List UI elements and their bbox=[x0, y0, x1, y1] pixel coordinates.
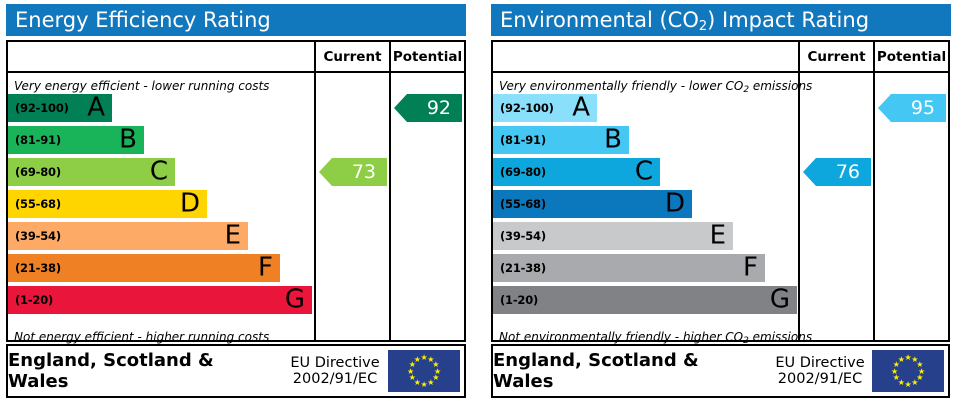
footer-directive-line1: EU Directive bbox=[775, 355, 864, 371]
caption-top-prefix: Very environmentally friendly - lower CO bbox=[499, 79, 743, 93]
potential-rating-arrow: 95 bbox=[878, 94, 946, 122]
band-range-f: (21-38) bbox=[493, 261, 546, 275]
band-letter-d: D bbox=[180, 190, 200, 216]
band-letter-c: C bbox=[635, 158, 653, 184]
eu-star-icon: ★ bbox=[414, 356, 421, 363]
band-bar-g: (1-20) G bbox=[8, 286, 312, 314]
band-letter-d: D bbox=[665, 190, 685, 216]
chart-title-prefix: Environmental (CO bbox=[500, 8, 699, 32]
band-letter-e: E bbox=[710, 222, 726, 248]
chart-footer: England, Scotland & Wales EU Directive 2… bbox=[491, 344, 950, 398]
footer-directive-line2: 2002/91/EC bbox=[778, 371, 862, 387]
chart-title-bar: Environmental (CO2) Impact Rating bbox=[491, 4, 951, 36]
column-header-potential: Potential bbox=[389, 42, 464, 71]
band-letter-a: A bbox=[572, 94, 590, 120]
footer-directive: EU Directive 2002/91/EC bbox=[765, 346, 875, 396]
table-header-row: Current Potential bbox=[8, 42, 464, 73]
caption-bottom-suffix: emissions bbox=[749, 330, 812, 344]
band-letter-e: E bbox=[225, 222, 241, 248]
band-bar-g: (1-20) G bbox=[493, 286, 797, 314]
caption-bottom-prefix: Not environmentally friendly - higher CO bbox=[499, 330, 743, 344]
caption-bottom: Not energy efficient - higher running co… bbox=[14, 330, 269, 344]
band-range-e: (39-54) bbox=[493, 229, 546, 243]
column-header-current: Current bbox=[798, 42, 873, 71]
band-row-f: (21-38) F bbox=[8, 254, 312, 282]
band-range-c: (69-80) bbox=[493, 165, 546, 179]
band-row-d: (55-68) D bbox=[8, 190, 312, 218]
band-range-g: (1-20) bbox=[493, 293, 538, 307]
potential-rating-arrow: 92 bbox=[394, 94, 462, 122]
band-row-a: (92-100) A bbox=[493, 94, 797, 122]
chart-title-subscript: 2 bbox=[699, 19, 707, 34]
band-range-a: (92-100) bbox=[493, 101, 554, 115]
chart-footer: England, Scotland & Wales EU Directive 2… bbox=[6, 344, 466, 398]
band-row-a: (92-100) A bbox=[8, 94, 312, 122]
rating-table-frame: Current Potential Very environmentally f… bbox=[491, 40, 950, 342]
band-letter-g: G bbox=[770, 286, 790, 312]
band-row-b: (81-91) B bbox=[493, 126, 797, 154]
band-range-d: (55-68) bbox=[493, 197, 546, 211]
band-letter-b: B bbox=[604, 126, 622, 152]
footer-directive-line1: EU Directive bbox=[290, 355, 379, 371]
footer-directive: EU Directive 2002/91/EC bbox=[280, 346, 390, 396]
band-range-c: (69-80) bbox=[8, 165, 61, 179]
band-range-g: (1-20) bbox=[8, 293, 53, 307]
band-row-e: (39-54) E bbox=[8, 222, 312, 250]
band-bar-a: (92-100) A bbox=[493, 94, 597, 122]
band-bar-d: (55-68) D bbox=[8, 190, 207, 218]
eu-star-icon: ★ bbox=[421, 381, 428, 388]
footer-directive-line2: 2002/91/EC bbox=[293, 371, 377, 387]
band-range-e: (39-54) bbox=[8, 229, 61, 243]
column-divider-current bbox=[798, 73, 800, 340]
band-row-e: (39-54) E bbox=[493, 222, 797, 250]
band-row-c: (69-80) C bbox=[493, 158, 797, 186]
column-header-current: Current bbox=[314, 42, 389, 71]
current-rating-arrow: 76 bbox=[803, 158, 871, 186]
rating-bands: (92-100) A (81-91) B (69-80) C bbox=[493, 94, 797, 328]
column-divider-potential bbox=[389, 73, 391, 340]
band-bar-c: (69-80) C bbox=[493, 158, 660, 186]
eu-star-icon: ★ bbox=[905, 381, 912, 388]
eu-star-icon: ★ bbox=[898, 356, 905, 363]
eu-flag-icon: ★★★★★★★★★★★★ bbox=[388, 350, 460, 392]
band-row-g: (1-20) G bbox=[493, 286, 797, 314]
band-range-d: (55-68) bbox=[8, 197, 61, 211]
band-bar-d: (55-68) D bbox=[493, 190, 692, 218]
band-letter-a: A bbox=[87, 94, 105, 120]
eu-star-icon: ★ bbox=[911, 379, 918, 386]
band-row-f: (21-38) F bbox=[493, 254, 797, 282]
band-range-b: (81-91) bbox=[8, 133, 61, 147]
column-divider-current bbox=[314, 73, 316, 340]
current-rating-arrow: 73 bbox=[319, 158, 387, 186]
caption-top: Very energy efficient - lower running co… bbox=[14, 79, 269, 93]
caption-top-suffix: emissions bbox=[749, 79, 812, 93]
caption-bottom: Not environmentally friendly - higher CO… bbox=[499, 330, 812, 344]
rating-table-frame: Current Potential Very energy efficient … bbox=[6, 40, 466, 342]
band-row-d: (55-68) D bbox=[493, 190, 797, 218]
band-range-f: (21-38) bbox=[8, 261, 61, 275]
band-bar-e: (39-54) E bbox=[8, 222, 248, 250]
band-letter-f: F bbox=[258, 254, 273, 280]
band-bar-c: (69-80) C bbox=[8, 158, 175, 186]
table-header-row: Current Potential bbox=[493, 42, 948, 73]
band-letter-b: B bbox=[119, 126, 137, 152]
band-bar-f: (21-38) F bbox=[493, 254, 765, 282]
column-divider-potential bbox=[873, 73, 875, 340]
band-bar-b: (81-91) B bbox=[493, 126, 629, 154]
band-range-b: (81-91) bbox=[493, 133, 546, 147]
band-bar-b: (81-91) B bbox=[8, 126, 144, 154]
caption-top: Very environmentally friendly - lower CO… bbox=[499, 79, 812, 93]
chart-title-suffix: ) Impact Rating bbox=[707, 8, 869, 32]
band-row-b: (81-91) B bbox=[8, 126, 312, 154]
band-bar-a: (92-100) A bbox=[8, 94, 112, 122]
epc-charts-container: Energy Efficiency Rating Current Potenti… bbox=[0, 0, 957, 404]
eu-flag-icon: ★★★★★★★★★★★★ bbox=[872, 350, 944, 392]
chart-title: Energy Efficiency Rating bbox=[15, 8, 271, 32]
band-row-g: (1-20) G bbox=[8, 286, 312, 314]
footer-region-label: England, Scotland & Wales bbox=[8, 346, 280, 396]
band-letter-c: C bbox=[150, 158, 168, 184]
energy-efficiency-rating-chart: Energy Efficiency Rating Current Potenti… bbox=[0, 0, 472, 404]
band-letter-f: F bbox=[743, 254, 758, 280]
band-bar-f: (21-38) F bbox=[8, 254, 280, 282]
co2-impact-rating-chart: Environmental (CO2) Impact Rating Curren… bbox=[485, 0, 957, 404]
band-bar-e: (39-54) E bbox=[493, 222, 733, 250]
column-header-potential: Potential bbox=[873, 42, 948, 71]
eu-star-icon: ★ bbox=[427, 379, 434, 386]
footer-region-label: England, Scotland & Wales bbox=[493, 346, 765, 396]
rating-bands: (92-100) A (81-91) B (69-80) C bbox=[8, 94, 312, 328]
band-letter-g: G bbox=[285, 286, 305, 312]
band-row-c: (69-80) C bbox=[8, 158, 312, 186]
band-range-a: (92-100) bbox=[8, 101, 69, 115]
chart-title-bar: Energy Efficiency Rating bbox=[6, 4, 466, 36]
